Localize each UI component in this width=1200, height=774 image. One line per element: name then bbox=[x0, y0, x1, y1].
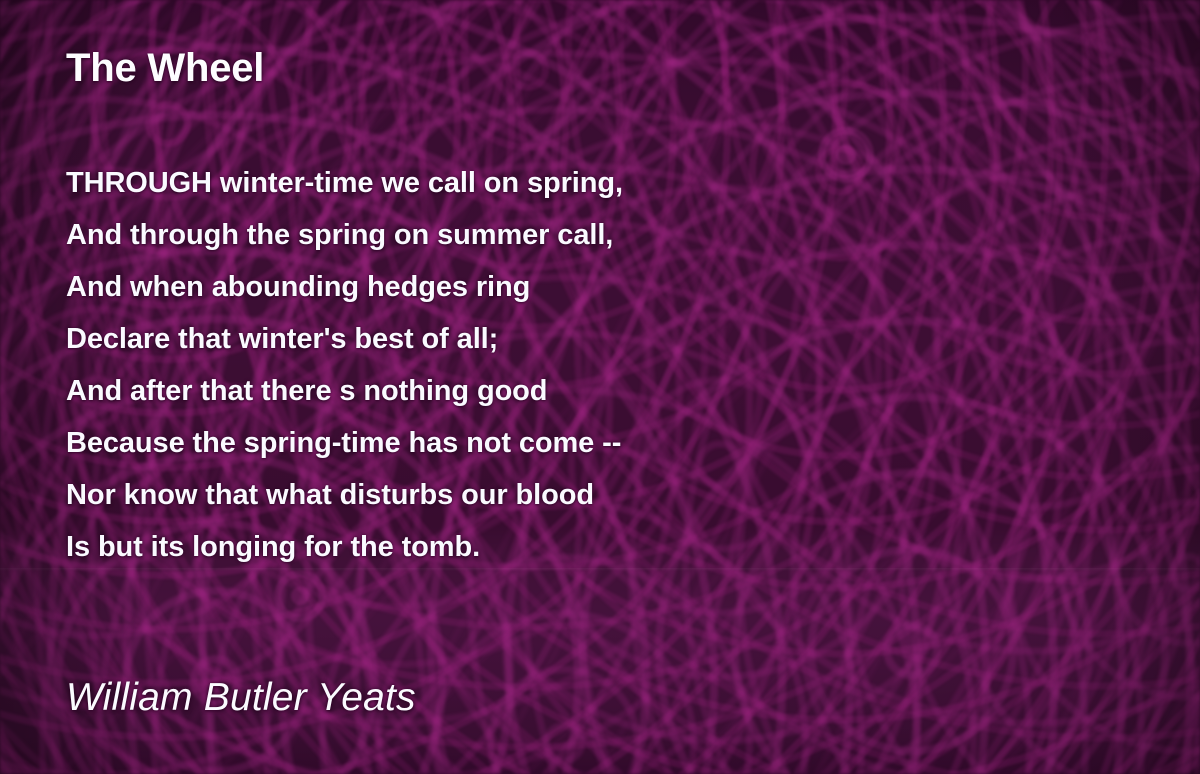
poem-line: And after that there s nothing good bbox=[66, 365, 623, 417]
poem-content: The Wheel THROUGH winter-time we call on… bbox=[0, 0, 1200, 774]
poem-line: Because the spring-time has not come -- bbox=[66, 417, 623, 469]
poem-author: William Butler Yeats bbox=[66, 676, 416, 720]
poem-line: Nor know that what disturbs our blood bbox=[66, 469, 623, 521]
poem-line: THROUGH winter-time we call on spring, bbox=[66, 157, 623, 209]
poem-card: The Wheel THROUGH winter-time we call on… bbox=[0, 0, 1200, 774]
poem-body: THROUGH winter-time we call on spring, A… bbox=[66, 157, 623, 573]
poem-title: The Wheel bbox=[66, 46, 264, 91]
poem-line: And through the spring on summer call, bbox=[66, 209, 623, 261]
poem-line: Declare that winter's best of all; bbox=[66, 313, 623, 365]
poem-line: And when abounding hedges ring bbox=[66, 261, 623, 313]
poem-line: Is but its longing for the tomb. bbox=[66, 521, 623, 573]
